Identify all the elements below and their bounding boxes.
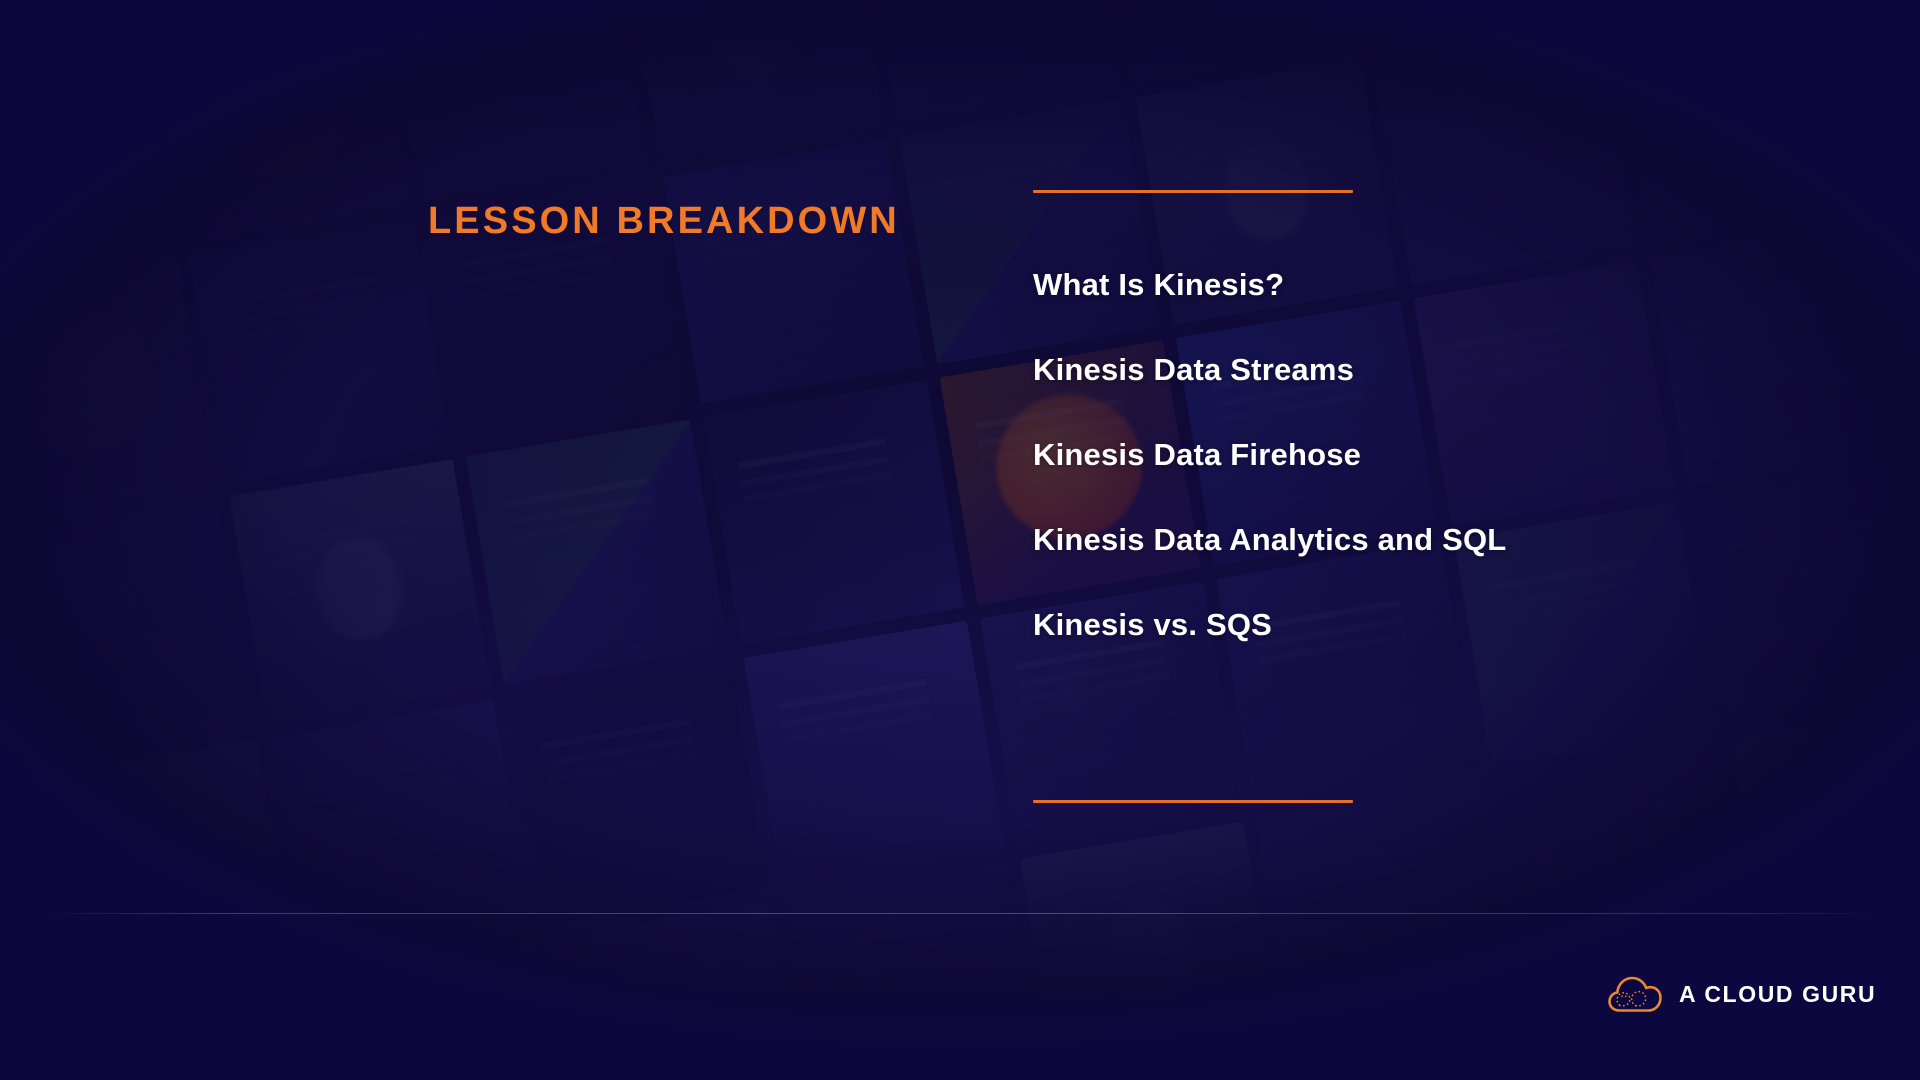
list-item: What Is Kinesis? <box>1033 269 1506 300</box>
divider-bottom <box>1033 800 1353 803</box>
breakdown-list: What Is Kinesis? Kinesis Data Streams Ki… <box>1033 269 1506 640</box>
cloud-guru-icon <box>1607 975 1663 1013</box>
slide-canvas: LESSON BREAKDOWN What Is Kinesis? Kinesi… <box>0 0 1920 1080</box>
list-item: Kinesis Data Streams <box>1033 354 1506 385</box>
page-title: LESSON BREAKDOWN <box>428 200 900 243</box>
list-item: Kinesis vs. SQS <box>1033 609 1506 640</box>
divider-top <box>1033 190 1353 193</box>
brand-logo: A CLOUD GURU <box>1607 975 1876 1013</box>
list-item: Kinesis Data Firehose <box>1033 439 1506 470</box>
list-item: Kinesis Data Analytics and SQL <box>1033 524 1506 555</box>
brand-name: A CLOUD GURU <box>1679 981 1876 1008</box>
slide-content: LESSON BREAKDOWN What Is Kinesis? Kinesi… <box>0 0 1920 1080</box>
breakdown-panel <box>1033 190 1513 193</box>
footer-hairline-divider <box>42 913 1878 914</box>
